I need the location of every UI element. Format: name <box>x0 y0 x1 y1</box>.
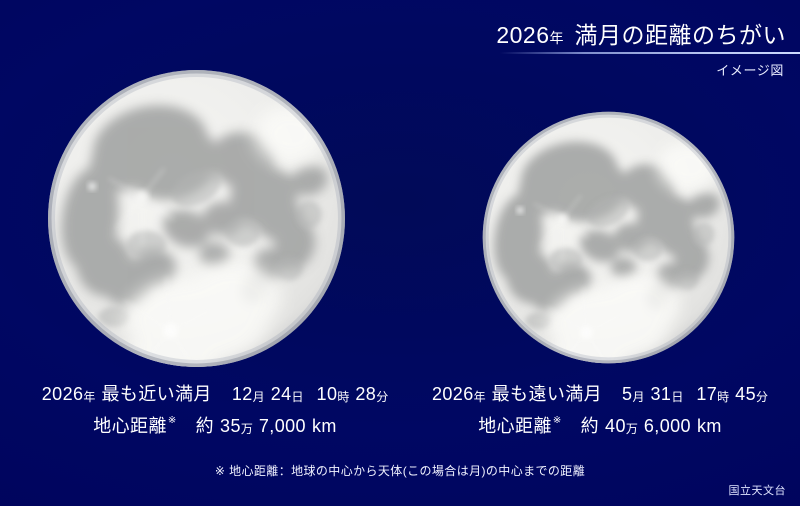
nearest-distance-label: 地心距離 <box>93 416 167 436</box>
farthest-distance-label: 地心距離 <box>478 416 552 436</box>
farthest-minute-unit: 分 <box>756 390 768 404</box>
nearest-year-unit: 年 <box>83 390 95 404</box>
nearest-month: 12 <box>232 384 253 404</box>
farthest-distance-approx: 約 <box>581 416 599 436</box>
farthest-distance-man-unit: 万 <box>626 422 638 436</box>
farthest-full-moon-image <box>481 110 736 365</box>
subtitle-image-note: イメージ図 <box>716 60 784 79</box>
farthest-year: 2026 <box>432 384 474 404</box>
farthest-footnote-marker: ※ <box>553 415 562 426</box>
footnote-text: ※ 地心距離：地球の中心から天体(この場合は月)の中心までの距離 <box>0 462 800 479</box>
farthest-hour: 17 <box>696 384 717 404</box>
nearest-day: 24 <box>271 384 292 404</box>
nearest-distance-man-unit: 万 <box>241 422 253 436</box>
nearest-minute: 28 <box>355 384 376 404</box>
farthest-minute: 45 <box>735 384 756 404</box>
farthest-month: 5 <box>622 384 632 404</box>
nearest-footnote-marker: ※ <box>168 415 177 426</box>
nearest-day-unit: 日 <box>292 390 304 404</box>
farthest-label: 最も遠い満月 <box>492 384 602 404</box>
nearest-distance-unit: km <box>312 416 337 436</box>
farthest-distance-unit: km <box>697 416 722 436</box>
farthest-moon-caption: 2026年最も遠い満月5月31日17時45分 地心距離※約40万6,000km <box>400 383 800 437</box>
farthest-month-unit: 月 <box>632 390 644 404</box>
nearest-moon-distance-line: 地心距離※約35万7,000km <box>0 415 430 438</box>
nearest-moon-date-line: 2026年最も近い満月12月24日10時28分 <box>0 383 430 406</box>
nearest-distance-rest: 7,000 <box>259 416 306 436</box>
farthest-hour-unit: 時 <box>717 390 729 404</box>
farthest-year-unit: 年 <box>474 390 486 404</box>
title-block: 2026年満月の距離のちがい <box>496 22 786 48</box>
full-moon-icon <box>481 110 736 365</box>
farthest-distance-man: 40 <box>605 416 626 436</box>
farthest-day: 31 <box>650 384 671 404</box>
nearest-year: 2026 <box>42 384 84 404</box>
page-title: 2026年満月の距離のちがい <box>496 22 786 48</box>
nearest-distance-approx: 約 <box>196 416 214 436</box>
credit-text: 国立天文台 <box>729 482 787 498</box>
nearest-distance-man: 35 <box>220 416 241 436</box>
farthest-moon-date-line: 2026年最も遠い満月5月31日17時45分 <box>400 383 800 406</box>
farthest-distance-rest: 6,000 <box>644 416 691 436</box>
farthest-day-unit: 日 <box>671 390 683 404</box>
nearest-full-moon-image <box>46 68 347 369</box>
nearest-month-unit: 月 <box>253 390 265 404</box>
title-main: 満月の距離のちがい <box>575 22 787 48</box>
nearest-label: 最も近い満月 <box>101 384 211 404</box>
farthest-moon-distance-line: 地心距離※約40万6,000km <box>400 415 800 438</box>
nearest-minute-unit: 分 <box>376 390 388 404</box>
nearest-hour-unit: 時 <box>337 390 349 404</box>
nearest-hour: 10 <box>317 384 338 404</box>
full-moon-icon <box>46 68 347 369</box>
title-year: 2026 <box>496 22 549 48</box>
title-divider <box>500 52 800 54</box>
title-year-unit: 年 <box>550 30 564 46</box>
nearest-moon-caption: 2026年最も近い満月12月24日10時28分 地心距離※約35万7,000km <box>0 383 430 437</box>
infographic-canvas: 2026年満月の距離のちがい イメージ図 <box>0 0 800 506</box>
